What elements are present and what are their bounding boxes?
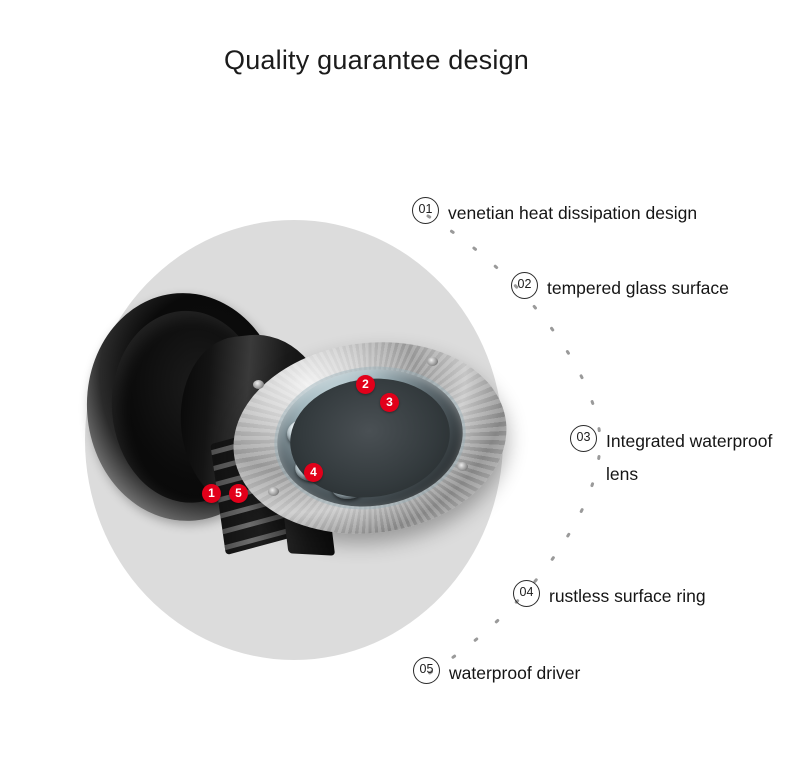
callout-number: 04 — [513, 580, 540, 607]
callout-number: 01 — [412, 197, 439, 224]
marker-5: 5 — [229, 484, 248, 503]
ring-screw-icon — [457, 462, 468, 471]
callout-02: 02 tempered glass surface — [511, 272, 729, 305]
infographic-page: Quality guarantee design — [0, 0, 790, 775]
ring-screw-icon — [268, 487, 279, 496]
marker-2: 2 — [356, 375, 375, 394]
page-title: Quality guarantee design — [224, 45, 529, 76]
callout-label: tempered glass surface — [547, 272, 729, 305]
marker-4: 4 — [304, 463, 323, 482]
callout-04: 04 rustless surface ring — [513, 580, 706, 613]
marker-1: 1 — [202, 484, 221, 503]
callout-label: Integrated waterproof lens — [606, 425, 790, 491]
callout-label: venetian heat dissipation design — [448, 197, 697, 230]
callout-number: 03 — [570, 425, 597, 452]
callout-label: rustless surface ring — [549, 580, 706, 613]
callout-01: 01 venetian heat dissipation design — [412, 197, 697, 230]
product-image — [85, 215, 505, 665]
marker-3: 3 — [380, 393, 399, 412]
callout-03: 03 Integrated waterproof lens — [570, 425, 790, 491]
callout-number: 05 — [413, 657, 440, 684]
ring-screw-icon — [253, 380, 264, 389]
callout-label: waterproof driver — [449, 657, 580, 690]
callout-05: 05 waterproof driver — [413, 657, 580, 690]
callout-number: 02 — [511, 272, 538, 299]
ring-screw-icon — [427, 357, 438, 366]
